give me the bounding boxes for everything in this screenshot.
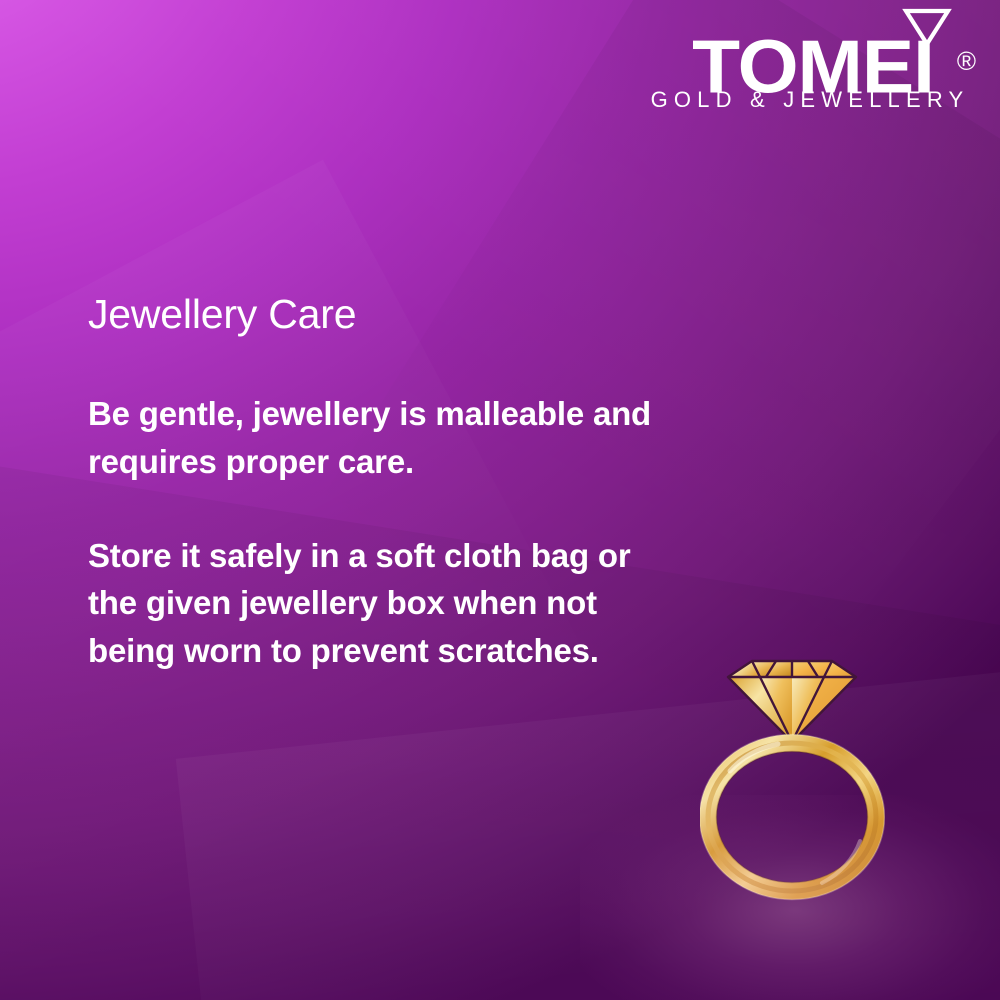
page-title: Jewellery Care <box>88 292 668 338</box>
poster-canvas: TOMEI ® GOLD & JEWELLERY Jewellery Care … <box>0 0 1000 1000</box>
care-paragraph-1: Be gentle, jewellery is malleable and re… <box>88 390 668 486</box>
registered-trademark-icon: ® <box>957 48 976 74</box>
care-copy-block: Jewellery Care Be gentle, jewellery is m… <box>88 292 668 675</box>
wordmark-row: TOMEI ® <box>648 4 978 76</box>
tomei-logo: TOMEI ® GOLD & JEWELLERY <box>648 4 978 113</box>
brand-wordmark: TOMEI <box>692 33 934 100</box>
ring-svg <box>700 645 885 915</box>
gold-diamond-icon <box>728 661 856 742</box>
care-paragraph-2: Store it safely in a soft cloth bag or t… <box>88 532 668 676</box>
gold-ring-icon <box>700 735 885 900</box>
diamond-ring-illustration <box>700 645 885 915</box>
